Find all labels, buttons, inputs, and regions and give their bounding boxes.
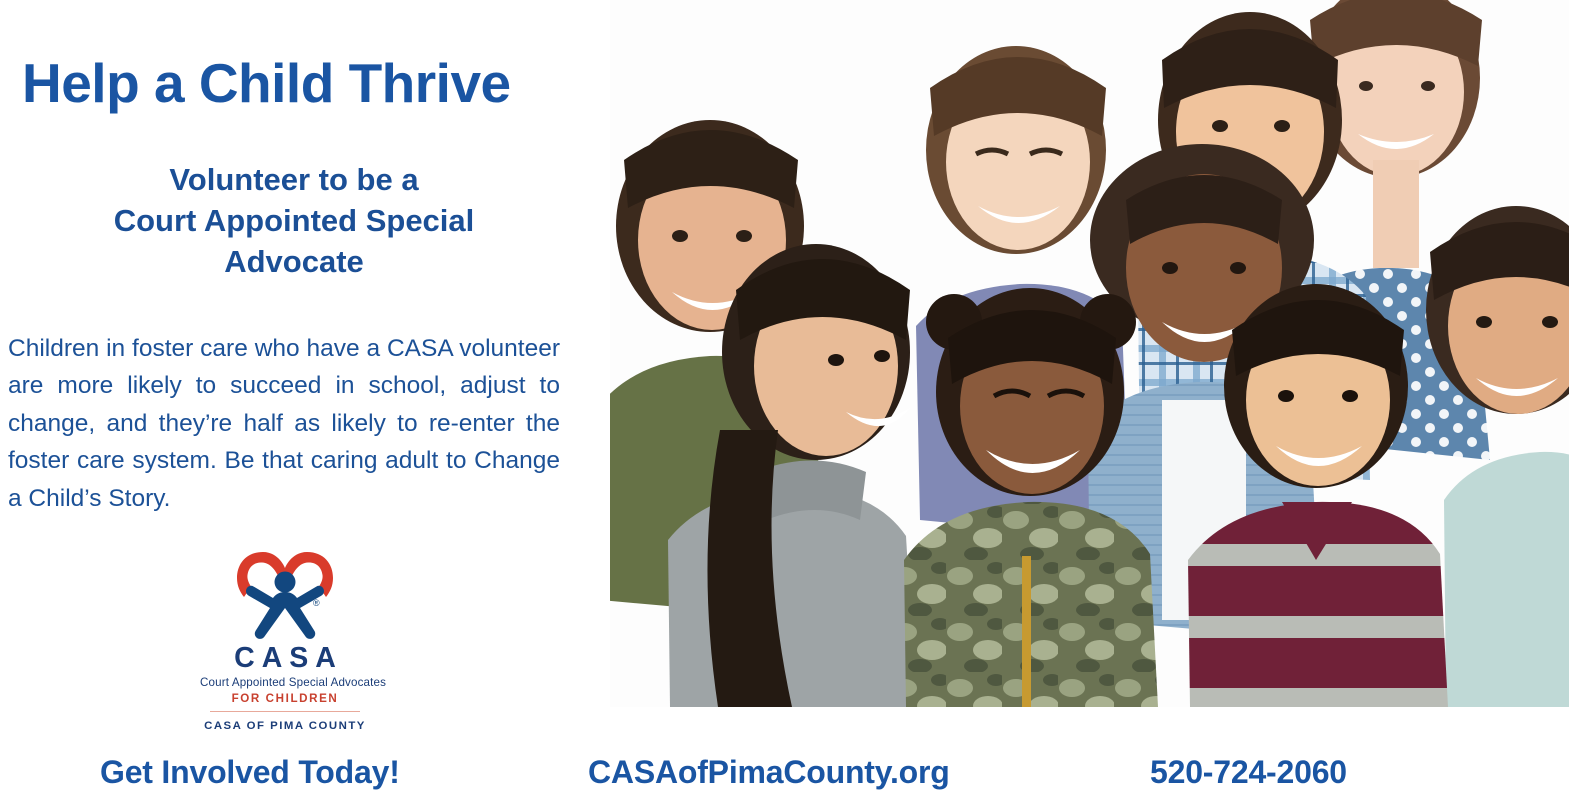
subheadline-line-2: Court Appointed Special [20,201,568,242]
page-title: Help a Child Thrive [22,55,582,113]
logo-for-children: FOR CHILDREN [200,692,370,705]
body-text: Children in foster care who have a CASA … [8,335,560,512]
subheadline: Volunteer to be a Court Appointed Specia… [20,160,568,283]
casa-recruitment-poster: Help a Child Thrive Volunteer to be a Co… [0,0,1569,809]
left-content-column: Help a Child Thrive Volunteer to be a Co… [0,0,600,730]
subheadline-line-1: Volunteer to be a [20,160,568,201]
logo-tagline: Court Appointed Special Advocates [200,676,370,689]
cta-text: Get Involved Today! [100,754,400,791]
photo-illustration [610,0,1569,707]
logo-divider [210,711,360,713]
casa-logo: ® CASA Court Appointed Special Advocates… [200,548,370,732]
footer-bar: Get Involved Today! CASAofPimaCounty.org… [0,740,1569,809]
casa-heart-child-icon: ® [233,548,337,640]
body-paragraph: Children in foster care who have a CASA … [8,330,560,517]
subheadline-line-3: Advocate [20,242,568,283]
svg-text:®: ® [313,598,320,608]
logo-acronym: CASA [207,644,370,673]
children-group-photo [610,0,1569,707]
logo-affiliate-name: CASA OF PIMA COUNTY [200,720,370,732]
website-link[interactable]: CASAofPimaCounty.org [588,754,950,791]
phone-link[interactable]: 520-724-2060 [1150,754,1347,791]
